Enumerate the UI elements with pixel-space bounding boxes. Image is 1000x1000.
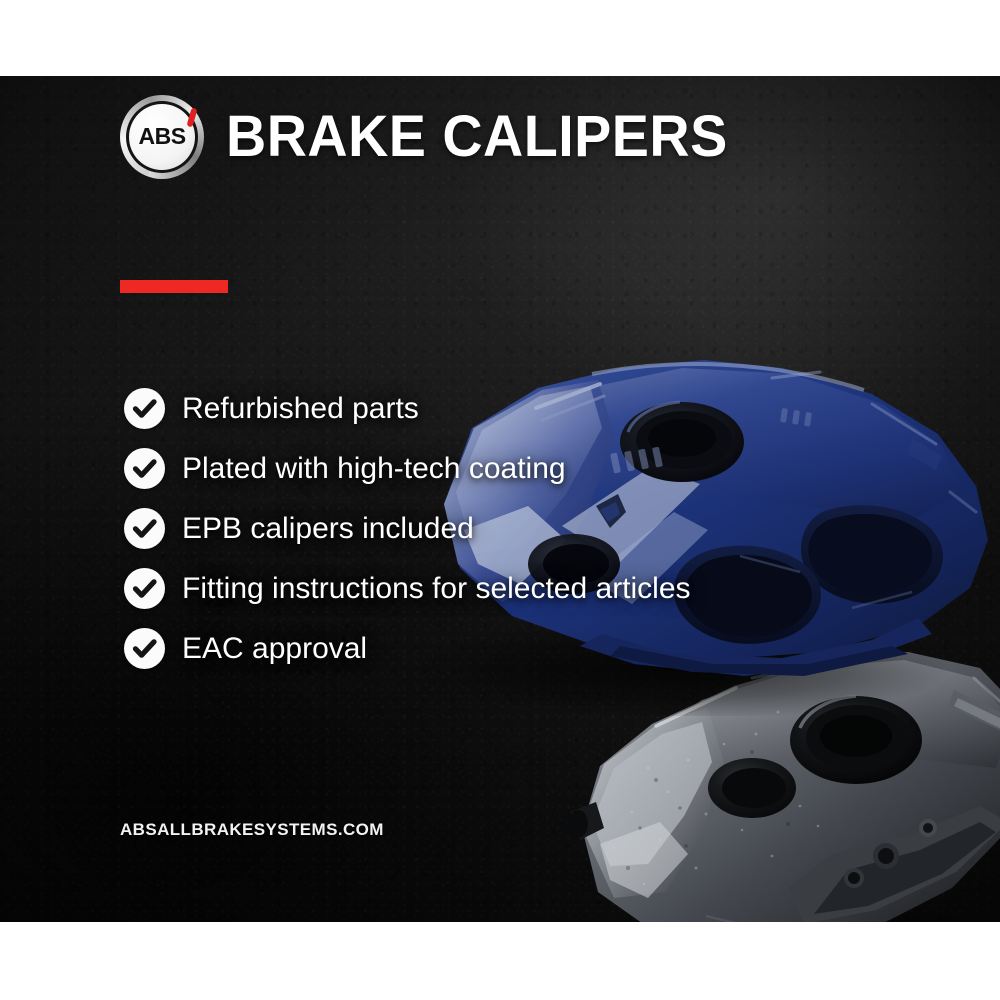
feature-list: Refurbished parts Plated with high-tech … xyxy=(124,388,691,669)
check-circle-icon xyxy=(124,628,165,669)
feature-item: Refurbished parts xyxy=(124,388,691,429)
red-accent-bar xyxy=(120,280,228,293)
website-url: ABSALLBRAKESYSTEMS.COM xyxy=(120,820,384,840)
check-circle-icon xyxy=(124,388,165,429)
page-title: BRAKE CALIPERS xyxy=(226,108,728,166)
feature-item: EAC approval xyxy=(124,628,691,669)
logo-disc: ABS xyxy=(129,104,195,170)
feature-label: Fitting instructions for selected articl… xyxy=(182,573,691,605)
logo-text: ABS xyxy=(138,125,185,148)
feature-label: EPB calipers included xyxy=(182,513,474,545)
check-circle-icon xyxy=(124,508,165,549)
feature-item: EPB calipers included xyxy=(124,508,691,549)
feature-item: Fitting instructions for selected articl… xyxy=(124,568,691,609)
feature-item: Plated with high-tech coating xyxy=(124,448,691,489)
feature-label: EAC approval xyxy=(182,633,367,665)
feature-label: Plated with high-tech coating xyxy=(182,453,566,485)
brand-header: ABS BRAKE CALIPERS xyxy=(120,95,749,179)
poster-canvas: ABS BRAKE CALIPERS Refurbished parts Pla… xyxy=(0,0,1000,1000)
feature-label: Refurbished parts xyxy=(182,393,419,425)
check-circle-icon xyxy=(124,568,165,609)
check-circle-icon xyxy=(124,448,165,489)
abs-roundel-logo-icon: ABS xyxy=(120,95,204,179)
